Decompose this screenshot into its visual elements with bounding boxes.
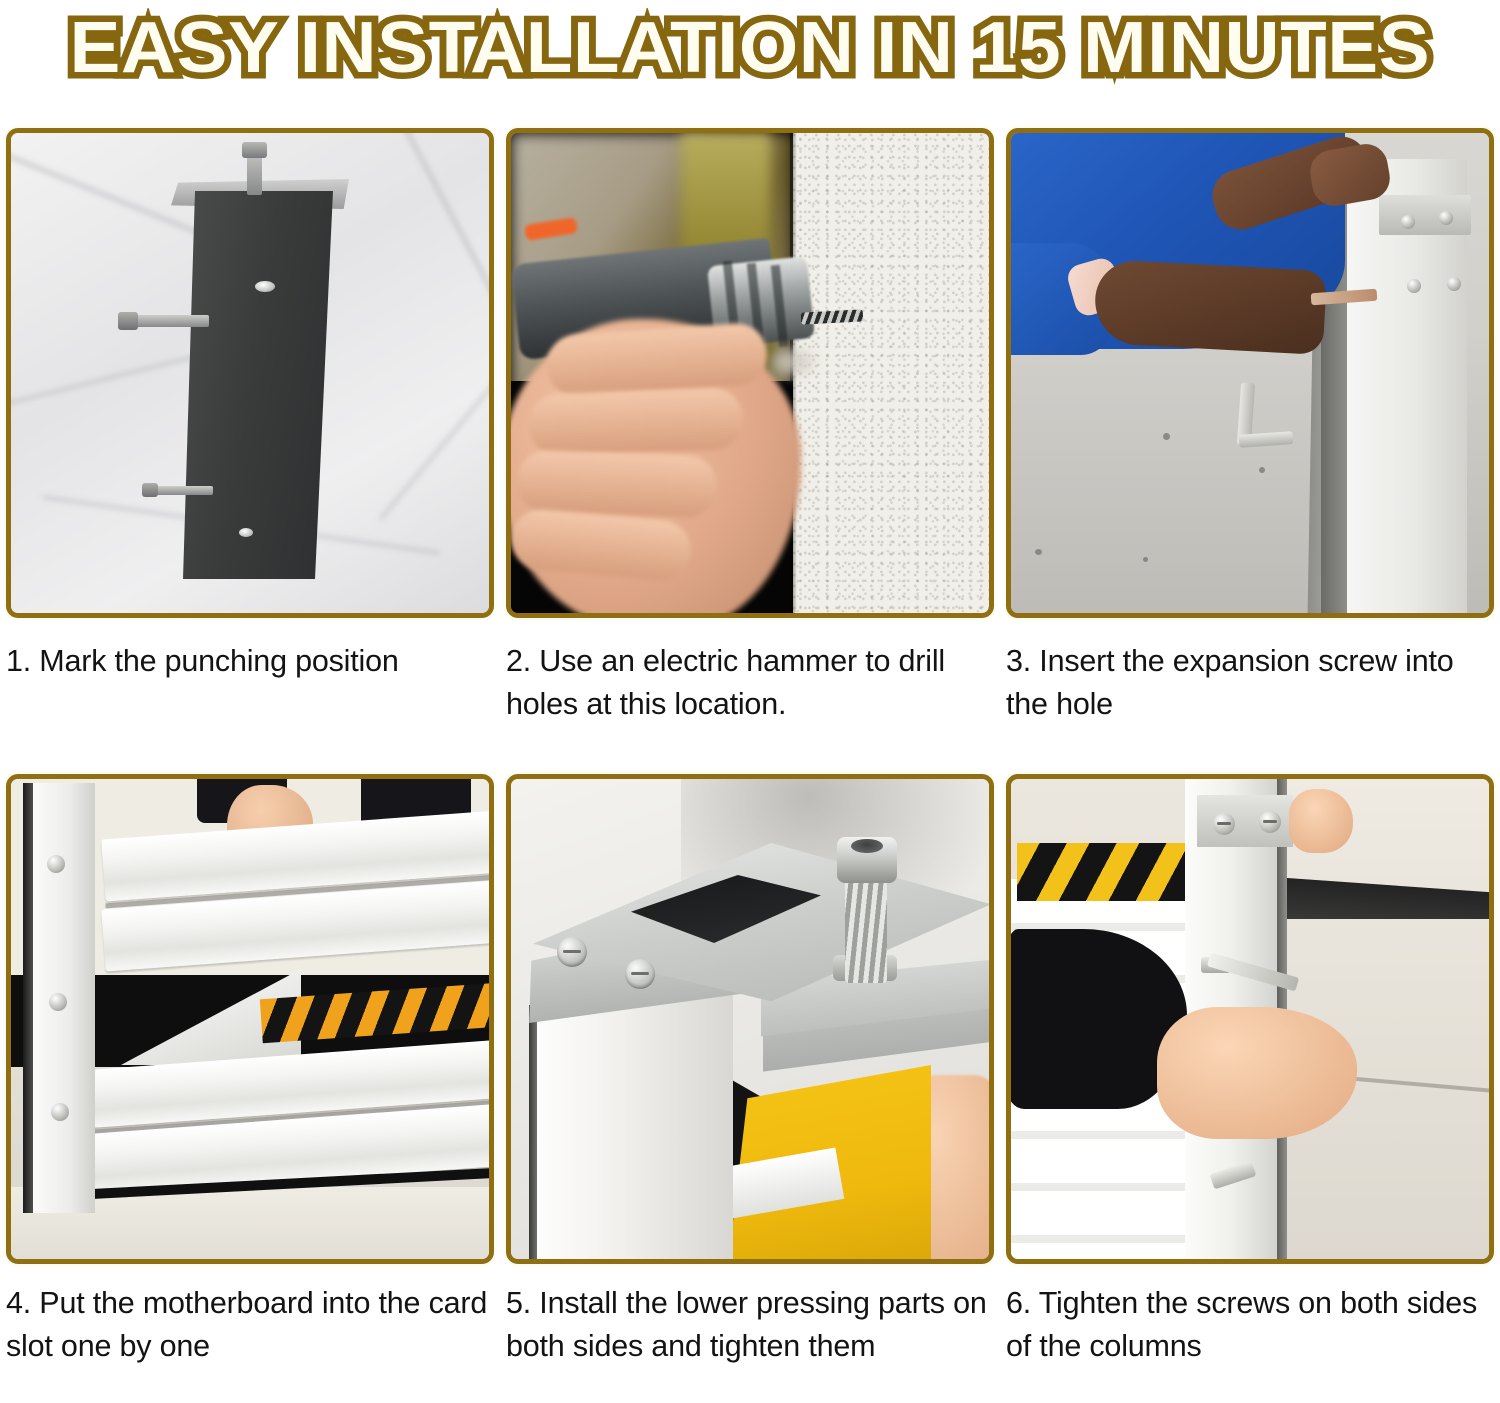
step-card-4: 4. Put the motherboard into the card slo… <box>0 774 500 1403</box>
step-image-5 <box>506 774 994 1264</box>
step-caption-1: 1. Mark the punching position <box>6 640 488 683</box>
photo-insert-expansion-screw <box>1011 133 1489 613</box>
step-caption-5: 5. Install the lower pressing parts on b… <box>506 1282 988 1369</box>
step-caption-4: 4. Put the motherboard into the card slo… <box>6 1282 488 1369</box>
page-title-bar: EASY INSTALLATION IN 15 MINUTES <box>0 0 1500 96</box>
step-image-6 <box>1006 774 1494 1264</box>
photo-mounting-base-plate <box>11 133 489 613</box>
photo-lower-pressing-part-bracket <box>511 779 989 1259</box>
step-caption-3: 3. Insert the expansion screw into the h… <box>1006 640 1488 727</box>
photo-tighten-column-screws <box>1011 779 1489 1259</box>
step-card-3: 3. Insert the expansion screw into the h… <box>1000 128 1500 774</box>
step-card-2: 2. Use an electric hammer to drill holes… <box>500 128 1000 774</box>
steps-grid: 1. Mark the punching position <box>0 128 1500 1403</box>
step-image-1 <box>6 128 494 618</box>
step-image-2 <box>506 128 994 618</box>
installation-guide-page: EASY INSTALLATION IN 15 MINUTES 1. Mark … <box>0 0 1500 1403</box>
page-title: EASY INSTALLATION IN 15 MINUTES <box>70 12 1431 84</box>
photo-drilling-wall <box>511 133 989 613</box>
photo-insert-boards-card-slot <box>11 779 489 1259</box>
step-image-3 <box>1006 128 1494 618</box>
step-image-4 <box>6 774 494 1264</box>
step-card-1: 1. Mark the punching position <box>0 128 500 774</box>
step-caption-6: 6. Tighten the screws on both sides of t… <box>1006 1282 1488 1369</box>
step-card-6: 6. Tighten the screws on both sides of t… <box>1000 774 1500 1403</box>
step-card-5: 5. Install the lower pressing parts on b… <box>500 774 1000 1403</box>
step-caption-2: 2. Use an electric hammer to drill holes… <box>506 640 988 727</box>
